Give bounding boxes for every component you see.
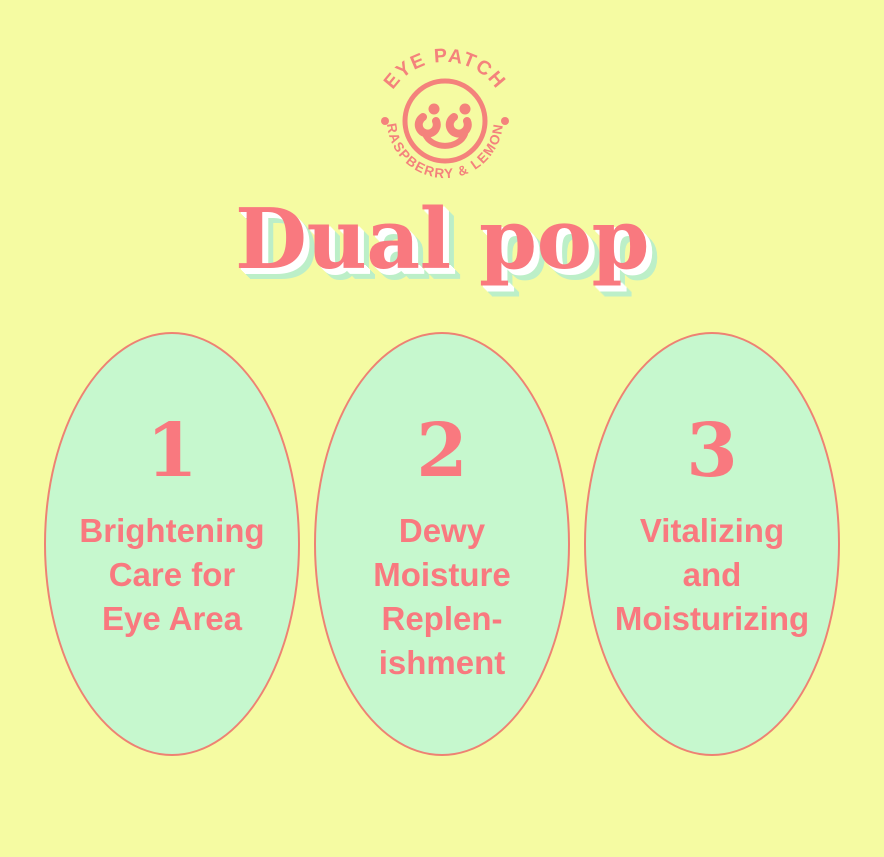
logo-dot-left-icon: [381, 117, 389, 125]
card-number: 3: [686, 418, 738, 485]
logo-top-arc-text: EYE PATCH: [380, 45, 511, 93]
feature-card-2: 2 Dewy Moisture Replen- ishment: [314, 332, 570, 756]
card-description: Brightening Care for Eye Area: [69, 509, 274, 642]
card-description: Dewy Moisture Replen- ishment: [363, 509, 521, 686]
page-title: Dual pop: [235, 198, 649, 281]
feature-cards-row: 1 Brightening Care for Eye Area 2 Dewy M…: [44, 332, 840, 756]
card-description: Vitalizing and Moisturizing: [605, 509, 819, 642]
feature-card-3: 3 Vitalizing and Moisturizing: [584, 332, 840, 756]
card-number: 1: [146, 418, 198, 485]
feature-card-1: 1 Brightening Care for Eye Area: [44, 332, 300, 756]
logo-bottom-arc-text: RASPBERRY & LEMON: [384, 122, 506, 181]
page-title-wrap: Dual pop: [0, 198, 884, 281]
card-number: 2: [416, 418, 468, 485]
logo-dot-right-icon: [501, 117, 509, 125]
brand-logo: EYE PATCH RASPBERRY & LEMON: [370, 45, 520, 195]
smiley-face-icon: [405, 81, 485, 161]
